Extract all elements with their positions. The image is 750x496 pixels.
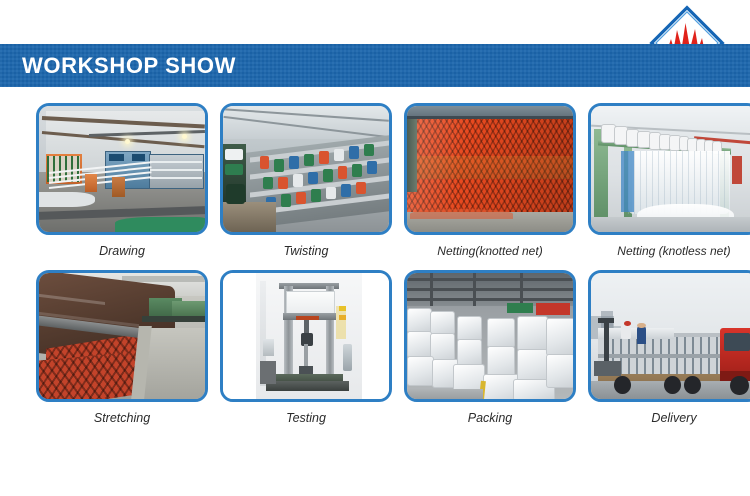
- caption-testing: Testing: [220, 411, 392, 426]
- caption-netting-knotless: Netting (knotless net): [588, 244, 750, 259]
- caption-netting-knotted: Netting(knotted net): [404, 244, 576, 259]
- photo-netting-knotted: [407, 106, 573, 232]
- photo-stretching: [39, 273, 205, 399]
- caption-stretching: Stretching: [36, 411, 208, 426]
- photo-testing: [223, 273, 389, 399]
- gallery-item-packing[interactable]: Packing: [404, 270, 576, 426]
- photo-frame-twisting: [220, 103, 392, 235]
- gallery-item-delivery[interactable]: Delivery: [588, 270, 750, 426]
- photo-frame-drawing: [36, 103, 208, 235]
- photo-frame-stretching: [36, 270, 208, 402]
- gallery-item-netting-knotless[interactable]: Netting (knotless net): [588, 103, 750, 259]
- gallery-item-testing[interactable]: Testing: [220, 270, 392, 426]
- photo-delivery: [591, 273, 750, 399]
- photo-frame-testing: [220, 270, 392, 402]
- photo-twisting: [223, 106, 389, 232]
- workshop-gallery: Drawing: [0, 103, 750, 426]
- photo-frame-netting-knotted: [404, 103, 576, 235]
- caption-delivery: Delivery: [588, 411, 750, 426]
- photo-frame-netting-knotless: [588, 103, 750, 235]
- photo-frame-delivery: [588, 270, 750, 402]
- photo-netting-knotless: [591, 106, 750, 232]
- gallery-item-twisting[interactable]: Twisting: [220, 103, 392, 259]
- caption-drawing: Drawing: [36, 244, 208, 259]
- photo-packing: [407, 273, 573, 399]
- page-title: WORKSHOP SHOW: [22, 50, 236, 82]
- caption-packing: Packing: [404, 411, 576, 426]
- photo-frame-packing: [404, 270, 576, 402]
- gallery-item-netting-knotted[interactable]: Netting(knotted net): [404, 103, 576, 259]
- photo-drawing: [39, 106, 205, 232]
- gallery-row-1: Drawing: [0, 103, 750, 259]
- gallery-row-2: Stretching: [0, 270, 750, 426]
- gallery-item-drawing[interactable]: Drawing: [36, 103, 208, 259]
- caption-twisting: Twisting: [220, 244, 392, 259]
- gallery-item-stretching[interactable]: Stretching: [36, 270, 208, 426]
